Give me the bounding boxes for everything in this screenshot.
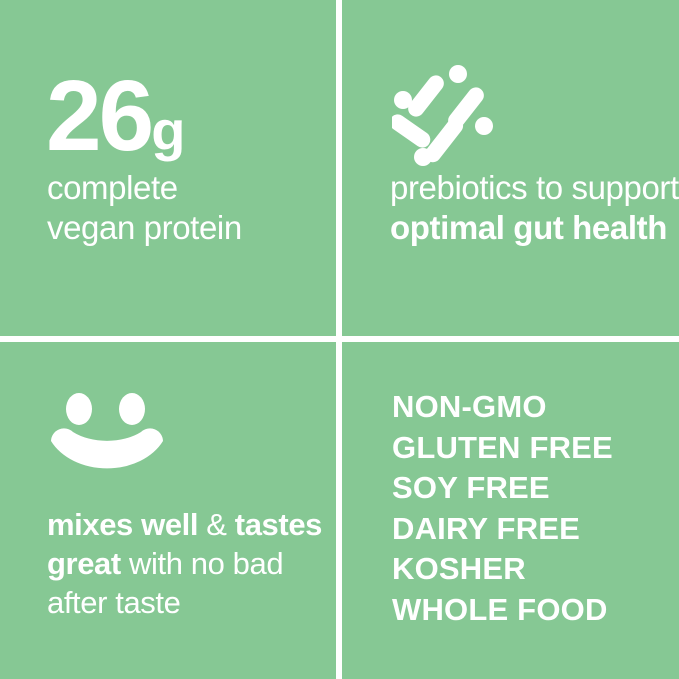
smiley-face-icon xyxy=(44,392,189,487)
claims-list: NON-GMO GLUTEN FREE SOY FREE DAIRY FREE … xyxy=(392,387,613,631)
taste-caption: mixes well & tastes great with no bad af… xyxy=(47,505,336,622)
list-item: SOY FREE xyxy=(392,468,613,509)
panel-protein: 26g complete vegan protein xyxy=(0,0,336,336)
protein-stat-number: 26 xyxy=(46,70,151,162)
protein-caption-line-1: complete xyxy=(47,168,327,208)
taste-caption-bold-1: mixes well xyxy=(47,507,198,542)
product-benefits-infographic: 26g complete vegan protein prebiotics xyxy=(0,0,679,679)
prebiotics-caption-regular: prebiotics to support xyxy=(390,169,679,206)
list-item: DAIRY FREE xyxy=(392,509,613,550)
protein-stat-unit: g xyxy=(151,103,184,159)
protein-caption-line-2: vegan protein xyxy=(47,208,327,248)
microbiome-icon xyxy=(392,62,502,172)
prebiotics-caption: prebiotics to support optimal gut health xyxy=(390,168,679,249)
taste-caption-regular-1: & xyxy=(198,507,235,542)
prebiotics-caption-bold: optimal gut health xyxy=(390,209,667,246)
protein-caption: complete vegan protein xyxy=(47,168,327,249)
panel-prebiotics: prebiotics to support optimal gut health xyxy=(342,0,679,336)
panel-claims: NON-GMO GLUTEN FREE SOY FREE DAIRY FREE … xyxy=(342,342,679,679)
list-item: KOSHER xyxy=(392,549,613,590)
panel-taste: mixes well & tastes great with no bad af… xyxy=(0,342,336,679)
protein-stat: 26g xyxy=(46,70,184,162)
list-item: NON-GMO xyxy=(392,387,613,428)
list-item: WHOLE FOOD xyxy=(392,590,613,631)
list-item: GLUTEN FREE xyxy=(392,428,613,469)
divider-horizontal xyxy=(0,336,679,342)
